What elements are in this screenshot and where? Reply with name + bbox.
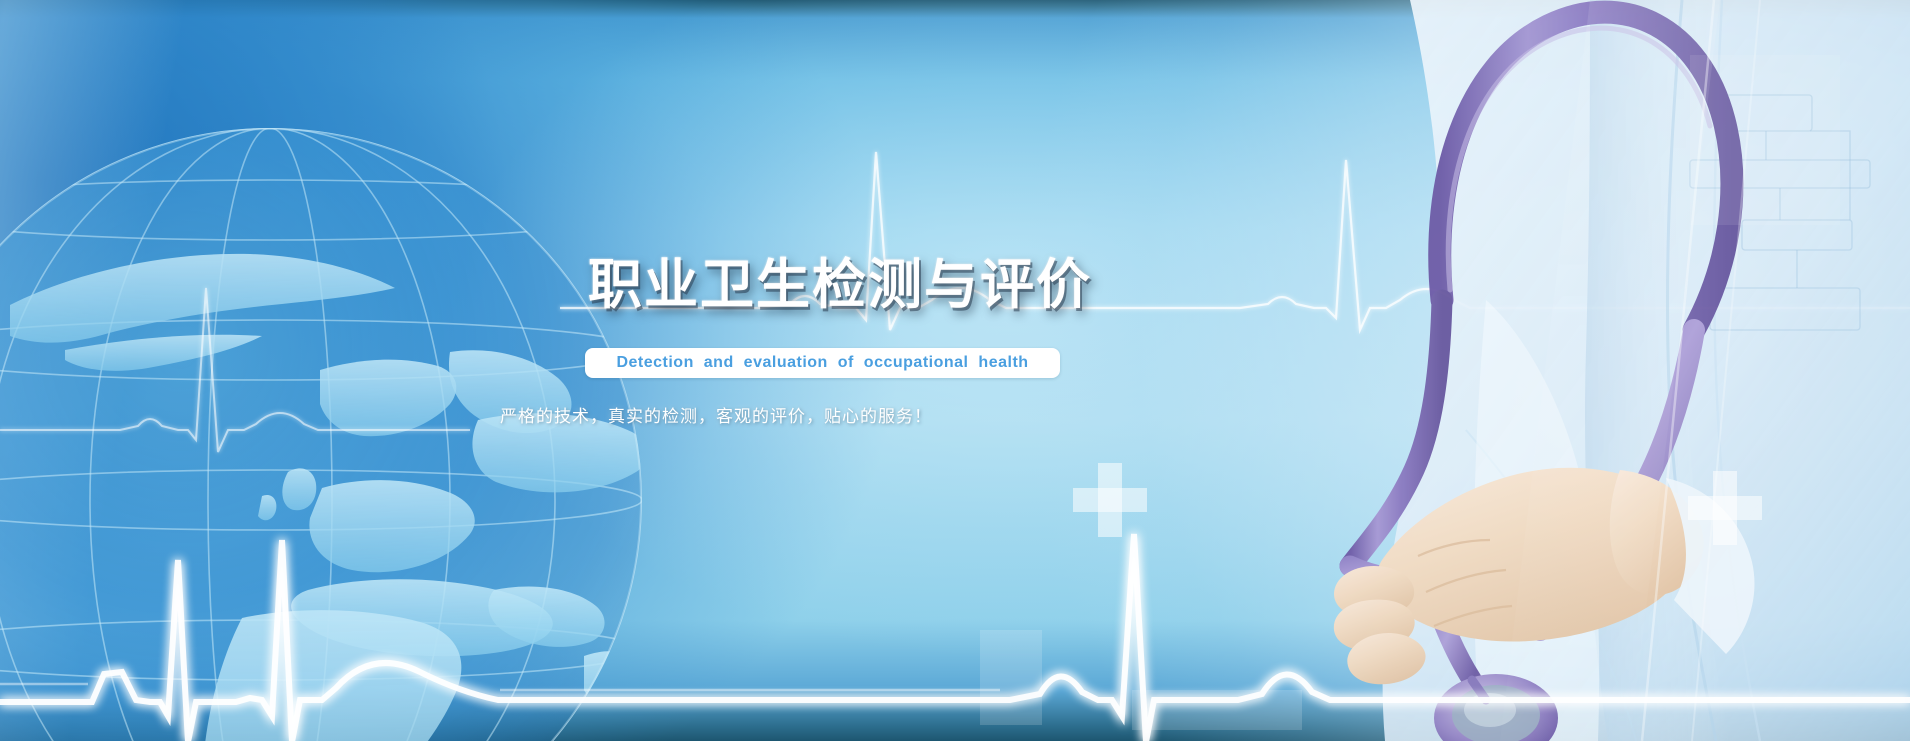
- banner-title: 职业卫生检测与评价: [588, 258, 1092, 312]
- banner-subtitle-pill: Detection and evaluation of occupational…: [585, 348, 1060, 378]
- banner-text-block: 职业卫生检测与评价 Detection and evaluation of oc…: [0, 0, 1910, 741]
- banner-subtitle-text: Detection and evaluation of occupational…: [616, 354, 1028, 372]
- occupational-health-banner: 职业卫生检测与评价 Detection and evaluation of oc…: [0, 0, 1910, 741]
- banner-tagline: 严格的技术，真实的检测，客观的评价，贴心的服务！: [500, 402, 932, 427]
